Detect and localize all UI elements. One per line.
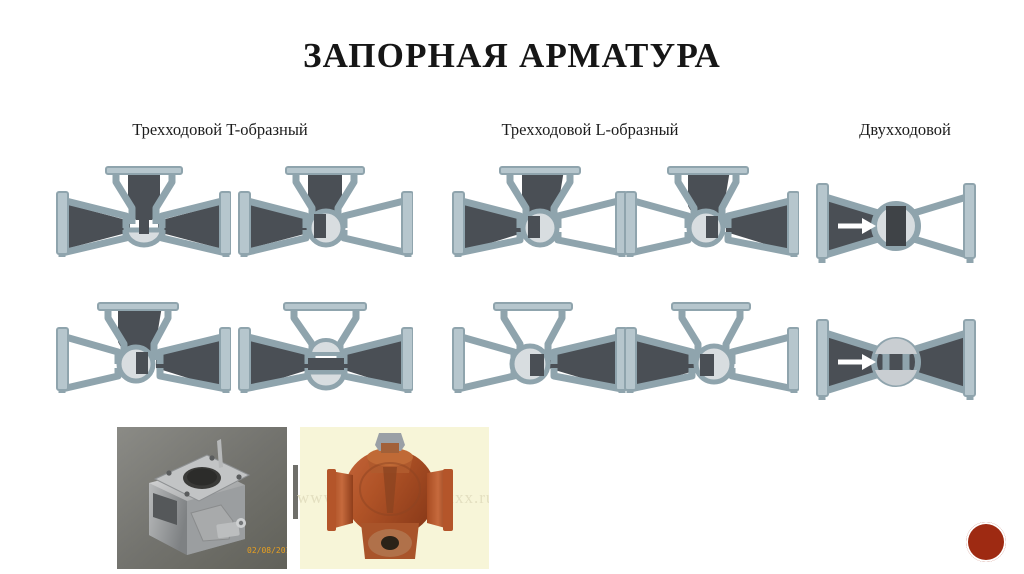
photo-orange-valve: www.xxxxxxxxxxxxxx.ru [291, 427, 489, 569]
valve-diagram-t-4 [238, 296, 413, 421]
valve-diagram-l-4 [624, 296, 799, 421]
valve-diagram-two-way-open [808, 296, 983, 421]
slide-canvas: ЗАПОРНАЯ АРМАТУРА Трехходовой T-образный… [0, 0, 1024, 574]
page-title: ЗАПОРНАЯ АРМАТУРА [0, 36, 1024, 76]
valve-diagram-l-1 [452, 158, 627, 283]
valve-diagram-two-way-closed [808, 158, 983, 283]
photo-cast-valve-body: 02/08/2011 [117, 427, 287, 569]
valve-diagram-l-3 [452, 296, 627, 421]
column-header-two-way: Двухходовой [790, 120, 1020, 140]
valve-diagram-t-1 [56, 158, 231, 283]
valve-diagram-t-3 [56, 296, 231, 421]
valve-diagram-l-2 [624, 158, 799, 283]
corner-badge [966, 522, 1006, 562]
svg-text:02/08/2011: 02/08/2011 [247, 546, 287, 555]
column-header-l-type: Трехходовой L-образный [425, 120, 755, 140]
column-header-t-type: Трехходовой T-образный [55, 120, 385, 140]
valve-diagram-t-2 [238, 158, 413, 283]
